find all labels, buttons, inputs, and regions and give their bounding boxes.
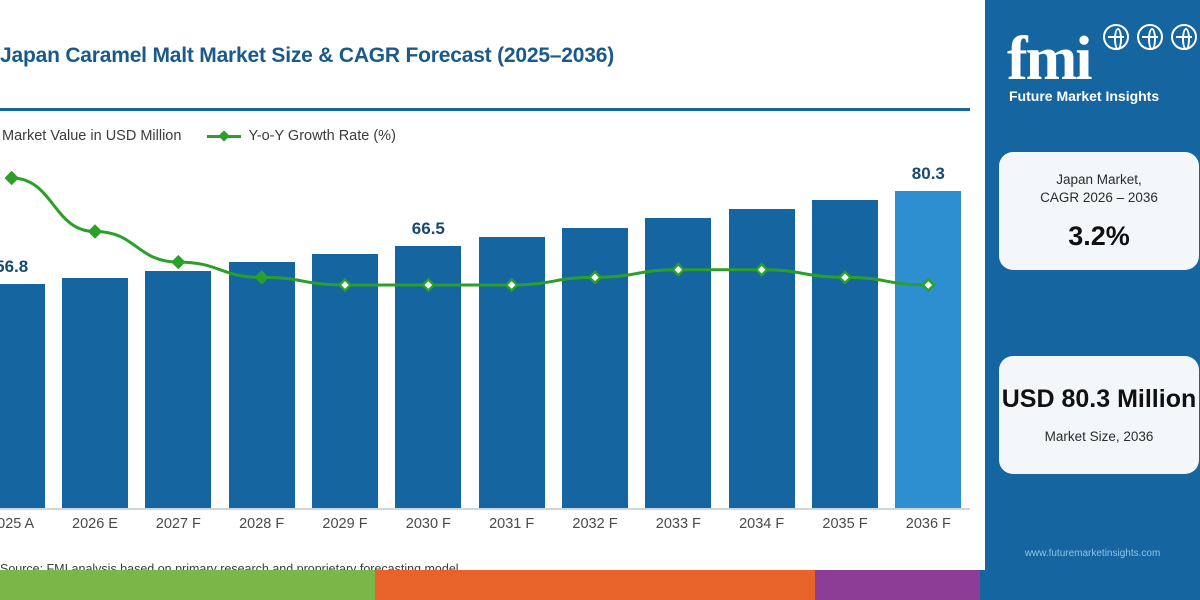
bar-2028-f[interactable] — [229, 262, 295, 510]
cagr-card: Japan Market, CAGR 2026 – 2036 3.2% — [999, 152, 1199, 270]
x-tick-label: 2026 E — [59, 516, 131, 532]
x-tick-label: 2032 F — [559, 516, 631, 532]
bars-container: 56.866.580.3 — [0, 160, 970, 510]
bottom-bar-segment-green — [0, 570, 375, 600]
bar-slot: 80.3 — [892, 160, 964, 510]
bar-2027-f[interactable] — [145, 271, 211, 510]
bar-slot: 56.8 — [0, 160, 48, 510]
fmi-logo: fmi Future Market Insights — [993, 10, 1200, 110]
x-tick-label: 2033 F — [642, 516, 714, 532]
bar-value-label: 56.8 — [0, 256, 48, 278]
source-note: Source: FMI analysis based on primary re… — [0, 562, 459, 570]
bar-2030-f[interactable] — [395, 246, 461, 510]
logo-wordmark: fmi — [1007, 28, 1091, 90]
bar-slot — [226, 160, 298, 510]
market-size-card: USD 80.3 Million Market Size, 2036 — [999, 356, 1199, 474]
bar-slot — [59, 160, 131, 510]
bar-slot — [809, 160, 881, 510]
bar-value-label: 66.5 — [392, 218, 464, 240]
bar-2026-e[interactable] — [62, 278, 128, 510]
x-tick-label: 2028 F — [226, 516, 298, 532]
globe-icon — [1171, 24, 1197, 50]
x-axis-line — [0, 508, 970, 510]
x-tick-label: 2027 F — [142, 516, 214, 532]
x-tick-label: 2031 F — [476, 516, 548, 532]
bar-slot: 66.5 — [392, 160, 464, 510]
website-url: www.futuremarketinsights.com — [985, 548, 1200, 559]
x-tick-label: 2034 F — [726, 516, 798, 532]
bar-2035-f[interactable] — [812, 200, 878, 510]
bar-2034-f[interactable] — [729, 209, 795, 510]
chart-legend: Market Value in USD Million Y-o-Y Growth… — [0, 128, 396, 144]
bottom-bar-segment-orange — [375, 570, 815, 600]
sidebar: fmi Future Market Insights Japan Market,… — [985, 0, 1200, 570]
bar-2031-f[interactable] — [479, 237, 545, 510]
legend-line-swatch-icon — [207, 130, 241, 142]
bar-slot — [309, 160, 381, 510]
bottom-color-bar — [0, 570, 1200, 600]
bar-slot — [642, 160, 714, 510]
logo-tagline: Future Market Insights — [1009, 88, 1159, 104]
x-axis-labels: 2025 A2026 E2027 F2028 F2029 F2030 F2031… — [0, 516, 970, 540]
bar-value-label: 80.3 — [892, 163, 964, 185]
plot-area: 56.866.580.3 2025 A: 4.6%2026 E: 3.9%202… — [0, 160, 970, 510]
globe-icon — [1103, 24, 1129, 50]
bar-2025-a[interactable] — [0, 284, 45, 510]
legend-item-market-value: Market Value in USD Million — [0, 128, 181, 144]
bar-2029-f[interactable] — [312, 254, 378, 510]
bar-slot — [559, 160, 631, 510]
cagr-value: 3.2% — [1068, 221, 1130, 252]
cagr-caption-line2: CAGR 2026 – 2036 — [1040, 189, 1158, 207]
bar-2033-f[interactable] — [645, 218, 711, 510]
bar-slot — [726, 160, 798, 510]
bar-2036-f[interactable] — [895, 191, 961, 510]
x-tick-label: 2035 F — [809, 516, 881, 532]
x-tick-label: 2025 A — [0, 516, 48, 532]
bar-slot — [142, 160, 214, 510]
x-tick-label: 2036 F — [892, 516, 964, 532]
market-size-caption: Market Size, 2036 — [1045, 428, 1154, 446]
x-tick-label: 2030 F — [392, 516, 464, 532]
legend-item-growth-rate: Y-o-Y Growth Rate (%) — [207, 128, 395, 144]
cagr-caption-line1: Japan Market, — [1056, 171, 1142, 189]
legend-label-market-value: Market Value in USD Million — [2, 128, 181, 144]
legend-label-growth-rate: Y-o-Y Growth Rate (%) — [248, 128, 395, 144]
bottom-bar-segment-purple — [815, 570, 980, 600]
bar-2032-f[interactable] — [562, 228, 628, 510]
chart-panel: Japan Caramel Malt Market Size & CAGR Fo… — [0, 0, 985, 570]
bar-slot — [476, 160, 548, 510]
market-size-value: USD 80.3 Million — [1002, 385, 1196, 414]
bottom-bar-segment-blue — [980, 570, 1200, 600]
x-tick-label: 2029 F — [309, 516, 381, 532]
chart-title: Japan Caramel Malt Market Size & CAGR Fo… — [0, 44, 614, 68]
globe-icon — [1137, 24, 1163, 50]
title-divider — [0, 108, 970, 111]
